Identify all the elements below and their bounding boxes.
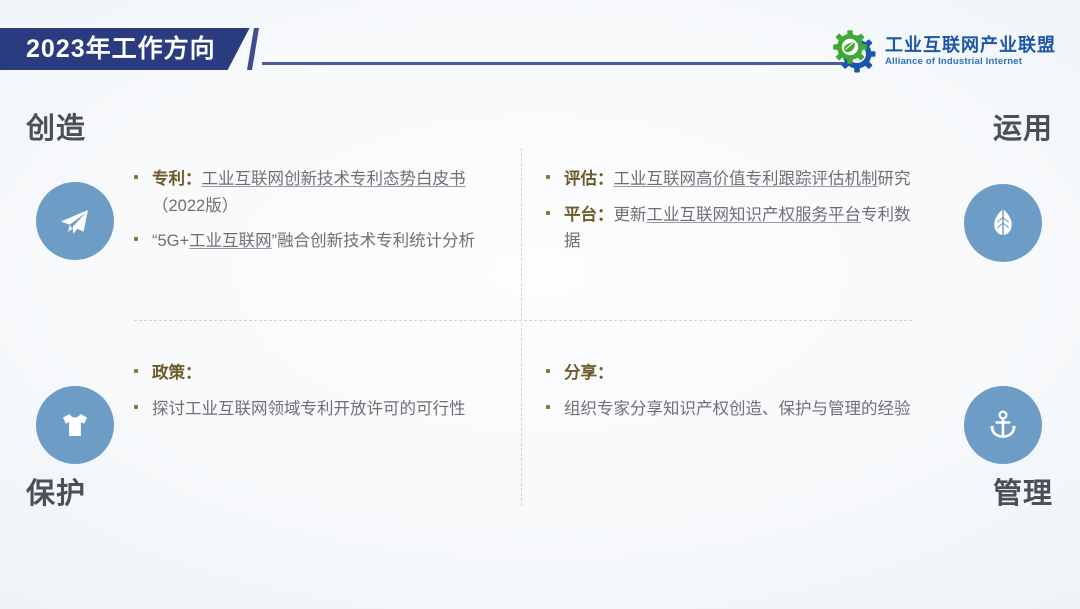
bullet-lead: 政策：	[152, 364, 202, 382]
bullet-underlined: 工业互联网高价值专利跟踪评估机制	[614, 170, 878, 188]
bullet-lead: 评估：	[564, 170, 614, 188]
bullet-lead: 分享：	[564, 364, 614, 382]
anchor-icon	[983, 405, 1023, 445]
bullet-lead: 平台：	[564, 206, 614, 224]
corner-label-management: 管理	[993, 480, 1053, 509]
corner-label-creation: 创造	[26, 115, 86, 144]
bullet-dot-icon	[546, 396, 564, 409]
list-item: 分享：	[546, 360, 924, 387]
bullet-dot-icon	[134, 228, 152, 241]
title-slash-decoration	[247, 28, 259, 70]
bullet-tail: ”融合创新技术专利统计分析	[272, 232, 476, 250]
quadrant-application: 评估：工业互联网高价值专利跟踪评估机制研究 平台：更新工业互联网知识产权服务平台…	[546, 166, 924, 264]
bullet-tail: （2022版）	[152, 197, 238, 215]
corner-label-application: 运用	[993, 115, 1053, 144]
bullet-dot-icon	[134, 166, 152, 179]
list-item: “5G+工业互联网”融合创新技术专利统计分析	[134, 228, 512, 255]
header-rule	[262, 62, 846, 65]
list-item: 平台：更新工业互联网知识产权服务平台专利数据	[546, 202, 924, 255]
page-title: 2023年工作方向	[26, 37, 216, 62]
bullet-dot-icon	[546, 360, 564, 373]
paper-plane-icon	[55, 201, 95, 241]
bullet-tail: 探讨工业互联网领域专利开放许可的可行性	[152, 400, 466, 418]
list-item: 组织专家分享知识产权创造、保护与管理的经验	[546, 396, 924, 423]
leaf-icon	[983, 203, 1023, 243]
logo-wordmark: 工业互联网产业联盟 Alliance of Industrial Interne…	[885, 36, 1056, 67]
bullet-pre: “5G+	[152, 232, 189, 250]
list-item: 政策：	[134, 360, 512, 387]
bullet-tail: 研究	[878, 170, 911, 188]
bullet-dot-icon	[134, 360, 152, 373]
bullet-underlined: 工业互联网创新技术专利态势白皮书	[202, 170, 466, 188]
bullet-tail: 组织专家分享知识产权创造、保护与管理的经验	[564, 400, 911, 418]
gear-leaf-emblem-icon	[832, 28, 878, 74]
horizontal-divider	[134, 320, 912, 321]
slide-header: 2023年工作方向	[0, 0, 1080, 95]
org-logo: 工业互联网产业联盟 Alliance of Industrial Interne…	[832, 28, 1056, 74]
vertical-divider	[521, 148, 522, 506]
shirt-icon	[55, 405, 95, 445]
bullet-dot-icon	[546, 202, 564, 215]
quadrant-creation: 专利：工业互联网创新技术专利态势白皮书（2022版） “5G+工业互联网”融合创…	[134, 166, 512, 264]
icon-circle-protection	[36, 386, 114, 464]
icon-circle-application	[964, 184, 1042, 262]
list-item: 评估：工业互联网高价值专利跟踪评估机制研究	[546, 166, 924, 193]
logo-name-en: Alliance of Industrial Internet	[885, 57, 1056, 67]
title-banner: 2023年工作方向	[0, 28, 250, 70]
slide: 2023年工作方向	[0, 0, 1080, 609]
icon-circle-management	[964, 386, 1042, 464]
list-item: 探讨工业互联网领域专利开放许可的可行性	[134, 396, 512, 423]
logo-name-cn: 工业互联网产业联盟	[885, 36, 1056, 54]
bullet-dot-icon	[546, 166, 564, 179]
bullet-underlined: 工业互联网	[189, 232, 272, 250]
bullet-pre: 更新	[614, 206, 647, 224]
corner-label-protection: 保护	[26, 480, 86, 509]
quadrant-management: 分享： 组织专家分享知识产权创造、保护与管理的经验	[546, 360, 924, 431]
bullet-dot-icon	[134, 396, 152, 409]
bullet-lead: 专利：	[152, 170, 202, 188]
icon-circle-creation	[36, 182, 114, 260]
list-item: 专利：工业互联网创新技术专利态势白皮书（2022版）	[134, 166, 512, 219]
bullet-underlined: 工业互联网知识产权服务平台	[647, 206, 862, 224]
quadrant-protection: 政策： 探讨工业互联网领域专利开放许可的可行性	[134, 360, 512, 431]
